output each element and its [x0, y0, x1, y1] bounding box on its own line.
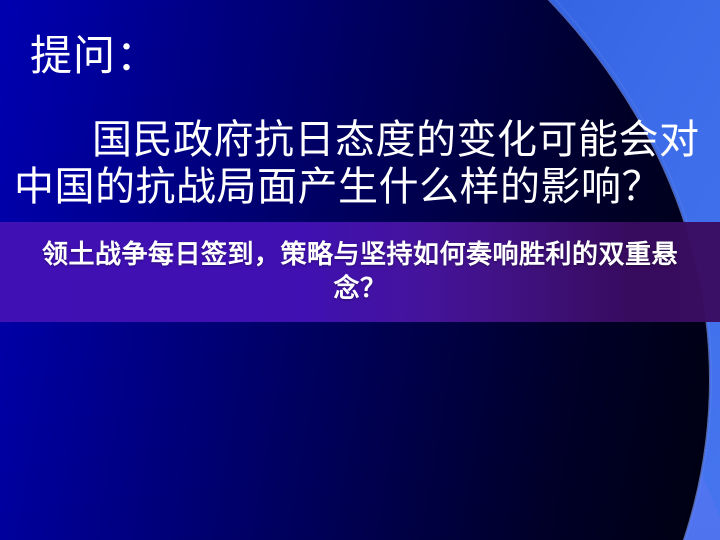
- question-body-text: 国民政府抗日态度的变化可能会对中国的抗战局面产生什么样的影响？: [14, 116, 714, 210]
- question-label: 提问：: [30, 34, 159, 80]
- promo-banner: 领土战争每日签到，策略与坚持如何奏响胜利的双重悬念？: [0, 222, 720, 322]
- promo-banner-text: 领土战争每日签到，策略与坚持如何奏响胜利的双重悬念？: [40, 238, 680, 307]
- presentation-slide: 提问： 国民政府抗日态度的变化可能会对中国的抗战局面产生什么样的影响？ 领土战争…: [0, 0, 720, 540]
